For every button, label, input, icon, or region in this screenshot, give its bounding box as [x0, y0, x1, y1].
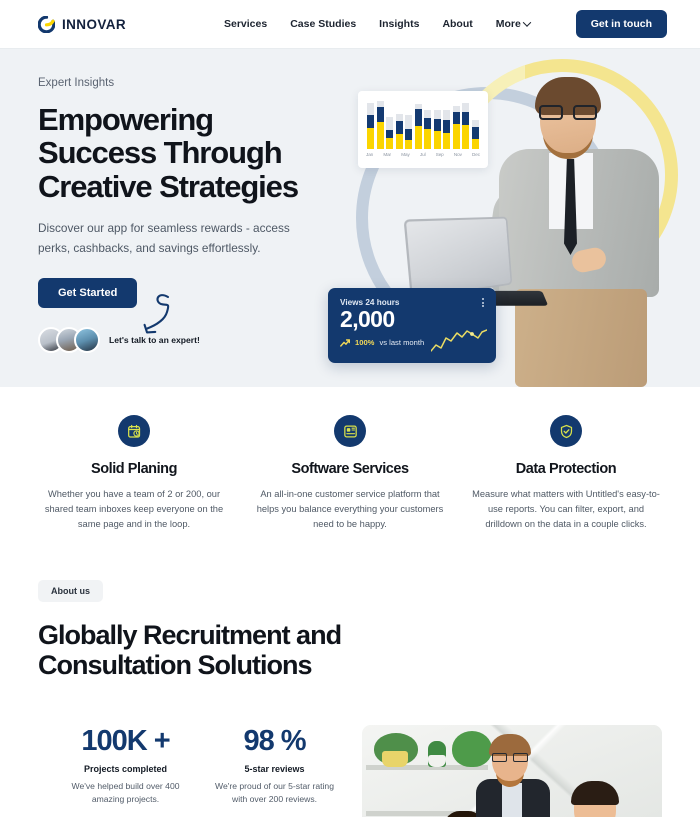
hero-copy: Expert Insights Empowering Success Throu… — [38, 77, 368, 353]
nav-link-insights[interactable]: Insights — [379, 18, 419, 30]
features-section: Solid Planing Whether you have a team of… — [0, 387, 700, 532]
stat-projects-completed: 100K + Projects completed We've helped b… — [62, 725, 189, 817]
shield-check-icon — [550, 415, 582, 447]
hero-heading-line-2: Success Through — [38, 136, 368, 169]
hero-heading: Empowering Success Through Creative Stra… — [38, 103, 368, 203]
bar-chart-plot — [365, 99, 481, 149]
social-proof-group: Let's talk to an expert! — [38, 327, 368, 353]
photo-plant-pot — [428, 755, 446, 767]
mini-bar-chart-card: Jan Mar May Jul Sep Nov Dec — [358, 91, 488, 168]
bar-column — [443, 99, 450, 149]
hero-section: Jan Mar May Jul Sep Nov Dec Views 24 hou… — [0, 49, 700, 387]
hero-visual: Jan Mar May Jul Sep Nov Dec Views 24 hou… — [328, 49, 700, 387]
stat-subtext: We're proud of our 5-star rating with ov… — [211, 780, 338, 807]
feature-title: Software Services — [256, 461, 444, 477]
bar-column — [424, 99, 431, 149]
nav-link-case-studies[interactable]: Case Studies — [290, 18, 356, 30]
hero-heading-line-1: Empowering — [38, 103, 368, 136]
about-pill-badge: About us — [38, 580, 103, 602]
person-shirt — [502, 783, 522, 817]
circular-spiral-logo-icon — [38, 16, 55, 33]
stat-change-percent: 100% — [355, 338, 374, 347]
feature-card-data-protection: Data Protection Measure what matters wit… — [458, 415, 674, 532]
get-started-button[interactable]: Get Started — [38, 278, 137, 308]
bar-column — [462, 99, 469, 149]
bar-column — [415, 99, 422, 149]
stat-five-star-reviews: 98 % 5-star reviews We're proud of our 5… — [211, 725, 338, 817]
photo-plant-pot — [382, 751, 408, 767]
top-navigation-bar: INNOVAR Services Case Studies Insights A… — [0, 0, 700, 49]
about-heading: Globally Recruitment and Consultation So… — [38, 620, 662, 680]
about-heading-line-2: Consultation Solutions — [38, 650, 662, 680]
glasses-icon — [492, 753, 528, 763]
stat-card-value: 2,000 — [340, 308, 484, 331]
stat-change-note: vs last month — [379, 338, 424, 347]
about-heading-line-1: Globally Recruitment and — [38, 620, 662, 650]
views-stat-card: Views 24 hours 2,000 100% vs last month — [328, 288, 496, 363]
stat-caption: 5-star reviews — [211, 764, 338, 774]
layout-grid-icon — [334, 415, 366, 447]
feature-description: An all-in-one customer service platform … — [256, 487, 444, 532]
about-section: About us Globally Recruitment and Consul… — [0, 532, 700, 817]
feature-description: Measure what matters with Untitled's eas… — [472, 487, 660, 532]
get-in-touch-button[interactable]: Get in touch — [576, 10, 667, 38]
bar-column — [453, 99, 460, 149]
x-tick: Sep — [436, 152, 444, 157]
photo-person-standing — [480, 737, 544, 817]
feature-card-solid-planing: Solid Planing Whether you have a team of… — [26, 415, 242, 532]
calendar-clock-icon — [118, 415, 150, 447]
landing-page: INNOVAR Services Case Studies Insights A… — [0, 0, 700, 817]
stat-value: 98 % — [211, 725, 338, 758]
nav-link-label: Services — [224, 18, 267, 30]
bar-column — [377, 99, 384, 149]
bar-column — [434, 99, 441, 149]
nav-links: Services Case Studies Insights About Mor… — [224, 18, 530, 30]
feature-title: Data Protection — [472, 461, 660, 477]
nav-link-services[interactable]: Services — [224, 18, 267, 30]
office-team-photo — [362, 725, 662, 817]
x-tick: Mar — [383, 152, 391, 157]
bar-column — [367, 99, 374, 149]
bar-column — [386, 99, 393, 149]
feature-card-software-services: Software Services An all-in-one customer… — [242, 415, 458, 532]
x-tick: Jul — [420, 152, 426, 157]
hero-eyebrow: Expert Insights — [38, 77, 368, 89]
avatar-group — [38, 327, 100, 353]
nav-link-about[interactable]: About — [442, 18, 472, 30]
person-hair — [571, 781, 619, 805]
chevron-down-icon — [523, 18, 531, 26]
nav-link-label: Case Studies — [290, 18, 356, 30]
x-tick: Jan — [366, 152, 373, 157]
feature-title: Solid Planing — [40, 461, 228, 477]
stat-value: 100K + — [62, 725, 189, 758]
bar-column — [405, 99, 412, 149]
feature-description: Whether you have a team of 2 or 200, our… — [40, 487, 228, 532]
x-tick: Nov — [454, 152, 462, 157]
nav-link-more[interactable]: More — [496, 18, 530, 30]
glasses-icon — [539, 105, 597, 121]
trend-up-arrow-icon — [340, 339, 350, 347]
stat-caption: Projects completed — [62, 764, 189, 774]
curved-arrow-icon — [134, 291, 176, 339]
bar-column — [396, 99, 403, 149]
nav-link-label: Insights — [379, 18, 419, 30]
bar-chart-x-tick-labels: Jan Mar May Jul Sep Nov Dec — [365, 152, 481, 157]
avatar[interactable] — [74, 327, 100, 353]
hero-heading-line-3: Creative Strategies — [38, 170, 368, 203]
bar-column — [472, 99, 479, 149]
nav-link-label: More — [496, 18, 521, 30]
photo-person-foreground — [558, 781, 634, 817]
hero-person-photo — [477, 69, 692, 387]
stat-subtext: We've helped build over 400 amazing proj… — [62, 780, 189, 807]
about-content-row: 100K + Projects completed We've helped b… — [38, 725, 662, 817]
hero-description: Discover our app for seamless rewards - … — [38, 219, 323, 258]
brand-name: INNOVAR — [62, 17, 126, 32]
nav-link-label: About — [442, 18, 472, 30]
x-tick: Dec — [472, 152, 480, 157]
kebab-menu-icon[interactable] — [482, 298, 484, 307]
x-tick: May — [401, 152, 409, 157]
sparkline-chart — [431, 329, 487, 355]
about-stats: 100K + Projects completed We've helped b… — [38, 725, 338, 817]
brand-logo[interactable]: INNOVAR — [38, 16, 126, 33]
